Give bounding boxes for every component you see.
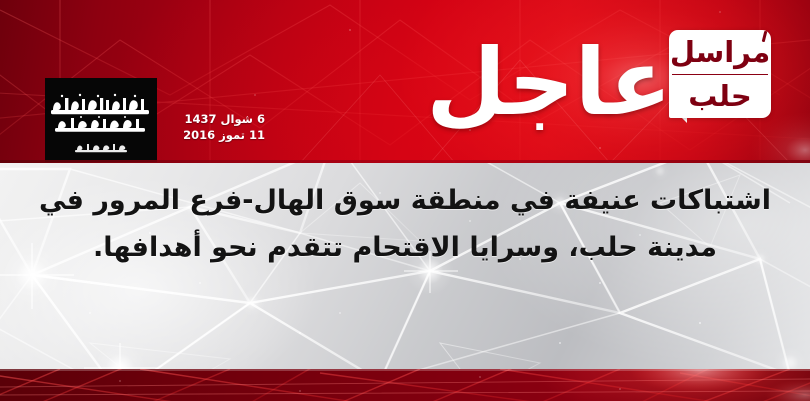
logo-line-murasil: مراسل [669, 32, 771, 72]
flag-black-banner [45, 78, 157, 162]
footer-mesh-pattern [0, 369, 810, 401]
footer-red-band [0, 369, 810, 401]
logo-bubble: مراسل حلب [669, 30, 771, 118]
breaking-news-banner: 6 شوال 1437 11 تموز 2016 عاجل مراسل حلب [0, 0, 810, 401]
headline-text: اشتباكات عنيفة في منطقة سوق الهال-فرع ال… [14, 177, 796, 271]
flag-calligraphy-icon [45, 78, 157, 162]
breaking-label: عاجل [432, 27, 672, 142]
footer-top-edge [0, 369, 810, 371]
headline-panel: اشتباكات عنيفة في منطقة سوق الهال-فرع ال… [0, 163, 810, 369]
logo-line-halab: حلب [669, 76, 771, 116]
logo-divider [672, 74, 768, 76]
date-gregorian: 11 تموز 2016 [183, 128, 265, 144]
channel-logo[interactable]: مراسل حلب [669, 30, 771, 125]
date-hijri: 6 شوال 1437 [183, 112, 265, 128]
header-red-band: 6 شوال 1437 11 تموز 2016 عاجل مراسل حلب [0, 0, 810, 163]
date-block: 6 شوال 1437 11 تموز 2016 [183, 112, 265, 143]
